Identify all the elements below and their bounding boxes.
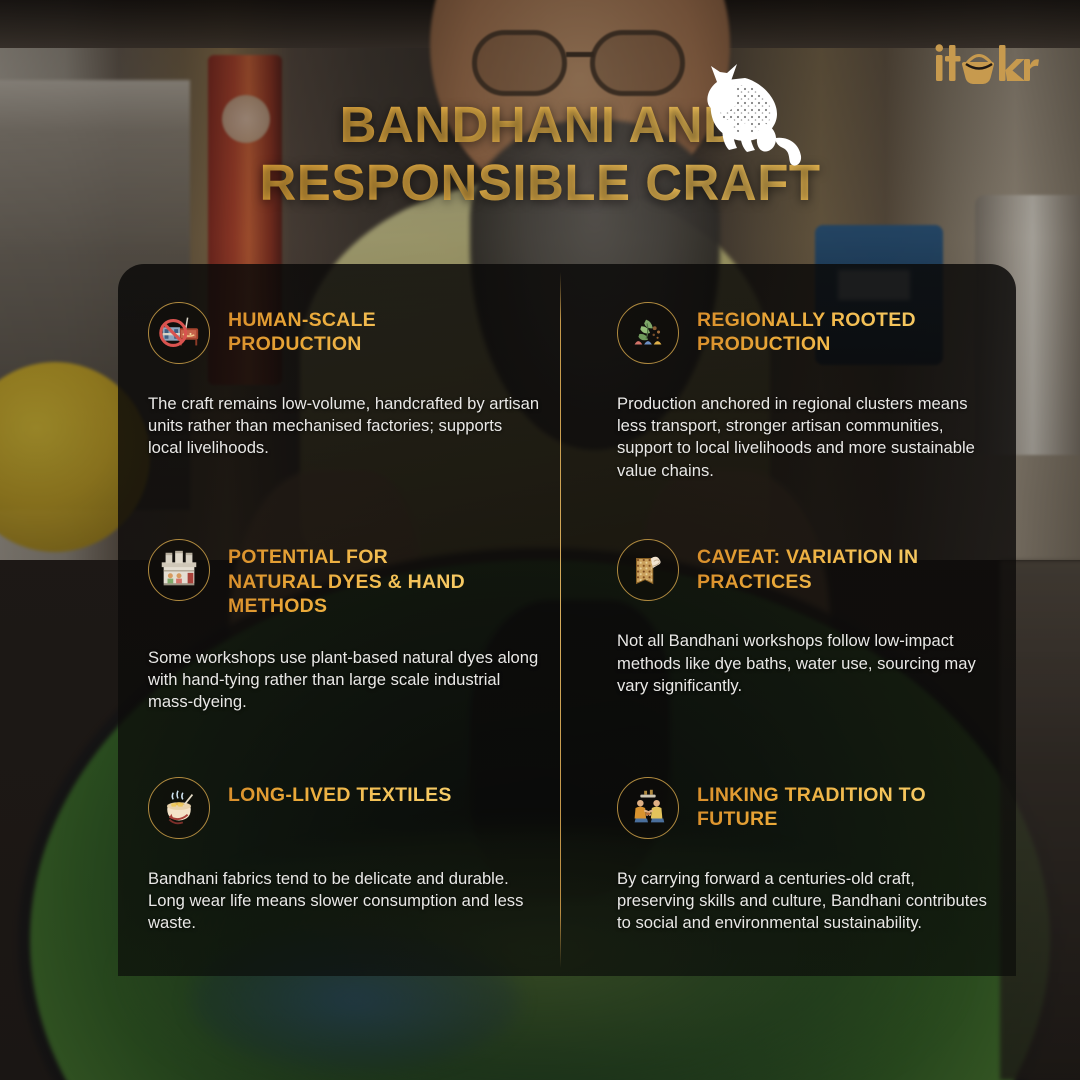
card-header: POTENTIAL FOR NATURAL DYES & HAND METHOD… xyxy=(148,539,543,618)
card-title: POTENTIAL FOR NATURAL DYES & HAND METHOD… xyxy=(228,539,483,618)
two-artisans-icon xyxy=(617,777,679,839)
card-body: By carrying forward a centuries-old craf… xyxy=(617,868,990,935)
card-long-lived-textiles: LONG-LIVED TEXTILES Bandhani fabrics ten… xyxy=(118,739,567,976)
card-title: LINKING TRADITION TO FUTURE xyxy=(697,777,957,831)
card-body: Bandhani fabrics tend to be delicate and… xyxy=(148,868,540,935)
card-title: CAVEAT: VARIATION IN PRACTICES xyxy=(697,539,957,593)
card-linking-tradition-future: LINKING TRADITION TO FUTURE By carrying … xyxy=(567,739,1016,976)
card-header: LONG-LIVED TEXTILES xyxy=(148,777,543,839)
card-regionally-rooted-production: REGIONALLY ROOTED PRODUCTION Production … xyxy=(567,264,1016,501)
card-body: Some workshops use plant-based natural d… xyxy=(148,647,540,714)
itokri-logo[interactable] xyxy=(934,40,1040,92)
card-body: Not all Bandhani workshops follow low-im… xyxy=(617,630,990,697)
page-title: BANDHANI AND RESPONSIBLE CRAFT xyxy=(0,96,1080,212)
card-human-scale-production: HUMAN-SCALE PRODUCTION The craft remains… xyxy=(118,264,567,501)
title-line-2: RESPONSIBLE CRAFT xyxy=(0,154,1080,212)
infographic-poster: BANDHANI AND RESPONSIBLE CRAFT xyxy=(0,0,1080,1080)
card-title: REGIONALLY ROOTED PRODUCTION xyxy=(697,302,957,356)
card-header: CAVEAT: VARIATION IN PRACTICES xyxy=(617,539,990,601)
card-natural-dyes-hand-methods: POTENTIAL FOR NATURAL DYES & HAND METHOD… xyxy=(118,501,567,738)
natural-dye-leaves-icon xyxy=(617,302,679,364)
artisan-workshop-icon xyxy=(148,539,210,601)
card-header: HUMAN-SCALE PRODUCTION xyxy=(148,302,543,364)
card-title: LONG-LIVED TEXTILES xyxy=(228,777,452,807)
card-header: REGIONALLY ROOTED PRODUCTION xyxy=(617,302,990,364)
card-body: The craft remains low-volume, handcrafte… xyxy=(148,393,540,460)
card-title: HUMAN-SCALE PRODUCTION xyxy=(228,302,483,356)
card-body: Production anchored in regional clusters… xyxy=(617,393,990,482)
cat-silhouette-icon xyxy=(686,52,808,170)
feature-grid: HUMAN-SCALE PRODUCTION The craft remains… xyxy=(118,264,1016,976)
dye-pot-icon xyxy=(148,777,210,839)
hand-holding-fabric-icon xyxy=(617,539,679,601)
no-factory-icon xyxy=(148,302,210,364)
title-line-1: BANDHANI AND xyxy=(0,96,1080,154)
card-header: LINKING TRADITION TO FUTURE xyxy=(617,777,990,839)
card-caveat-variation-practices: CAVEAT: VARIATION IN PRACTICES Not all B… xyxy=(567,501,1016,738)
